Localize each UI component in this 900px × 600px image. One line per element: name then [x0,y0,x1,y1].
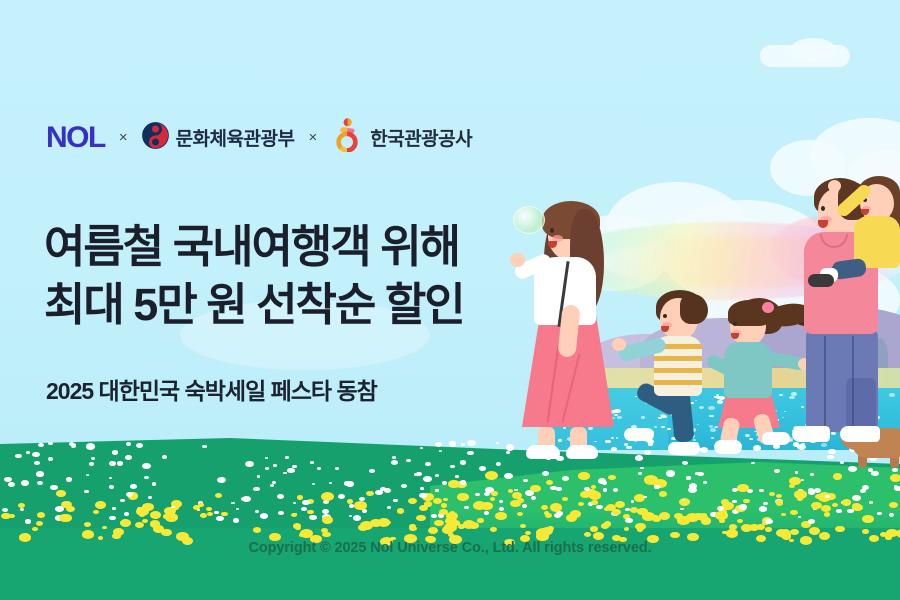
subheadline: 2025 대한민국 숙박세일 페스타 동참 [46,372,377,406]
logo-separator-2: × [308,129,317,146]
partner-logo-row: NOL × 문화체육관광부 × [46,118,472,157]
headline-line-1: 여름철 국내여행객 위해 [44,218,464,276]
kto-logo-label: 한국관광공사 [370,124,472,151]
promo-banner: NOL × 문화체육관광부 × [0,0,900,600]
kto-figure-icon [331,118,363,157]
character-child-on-back [836,176,900,316]
kto-logo[interactable]: 한국관광공사 [331,118,472,157]
taegeuk-icon [142,122,169,154]
mcst-logo-label: 문화체육관광부 [176,124,295,151]
headline-line-2: 최대 5만 원 선착순 할인 [44,276,464,334]
copyright-text: Copyright © 2025 Nol Universe Co., Ltd. … [0,540,900,556]
mcst-logo[interactable]: 문화체육관광부 [142,122,295,154]
cloud-icon [790,38,836,62]
nol-logo[interactable]: NOL [46,123,105,153]
headline: 여름철 국내여행객 위해 최대 5만 원 선착순 할인 [44,218,464,333]
small-bubble-icon [513,206,545,234]
character-mother [508,195,638,460]
logo-separator-1: × [119,129,128,146]
